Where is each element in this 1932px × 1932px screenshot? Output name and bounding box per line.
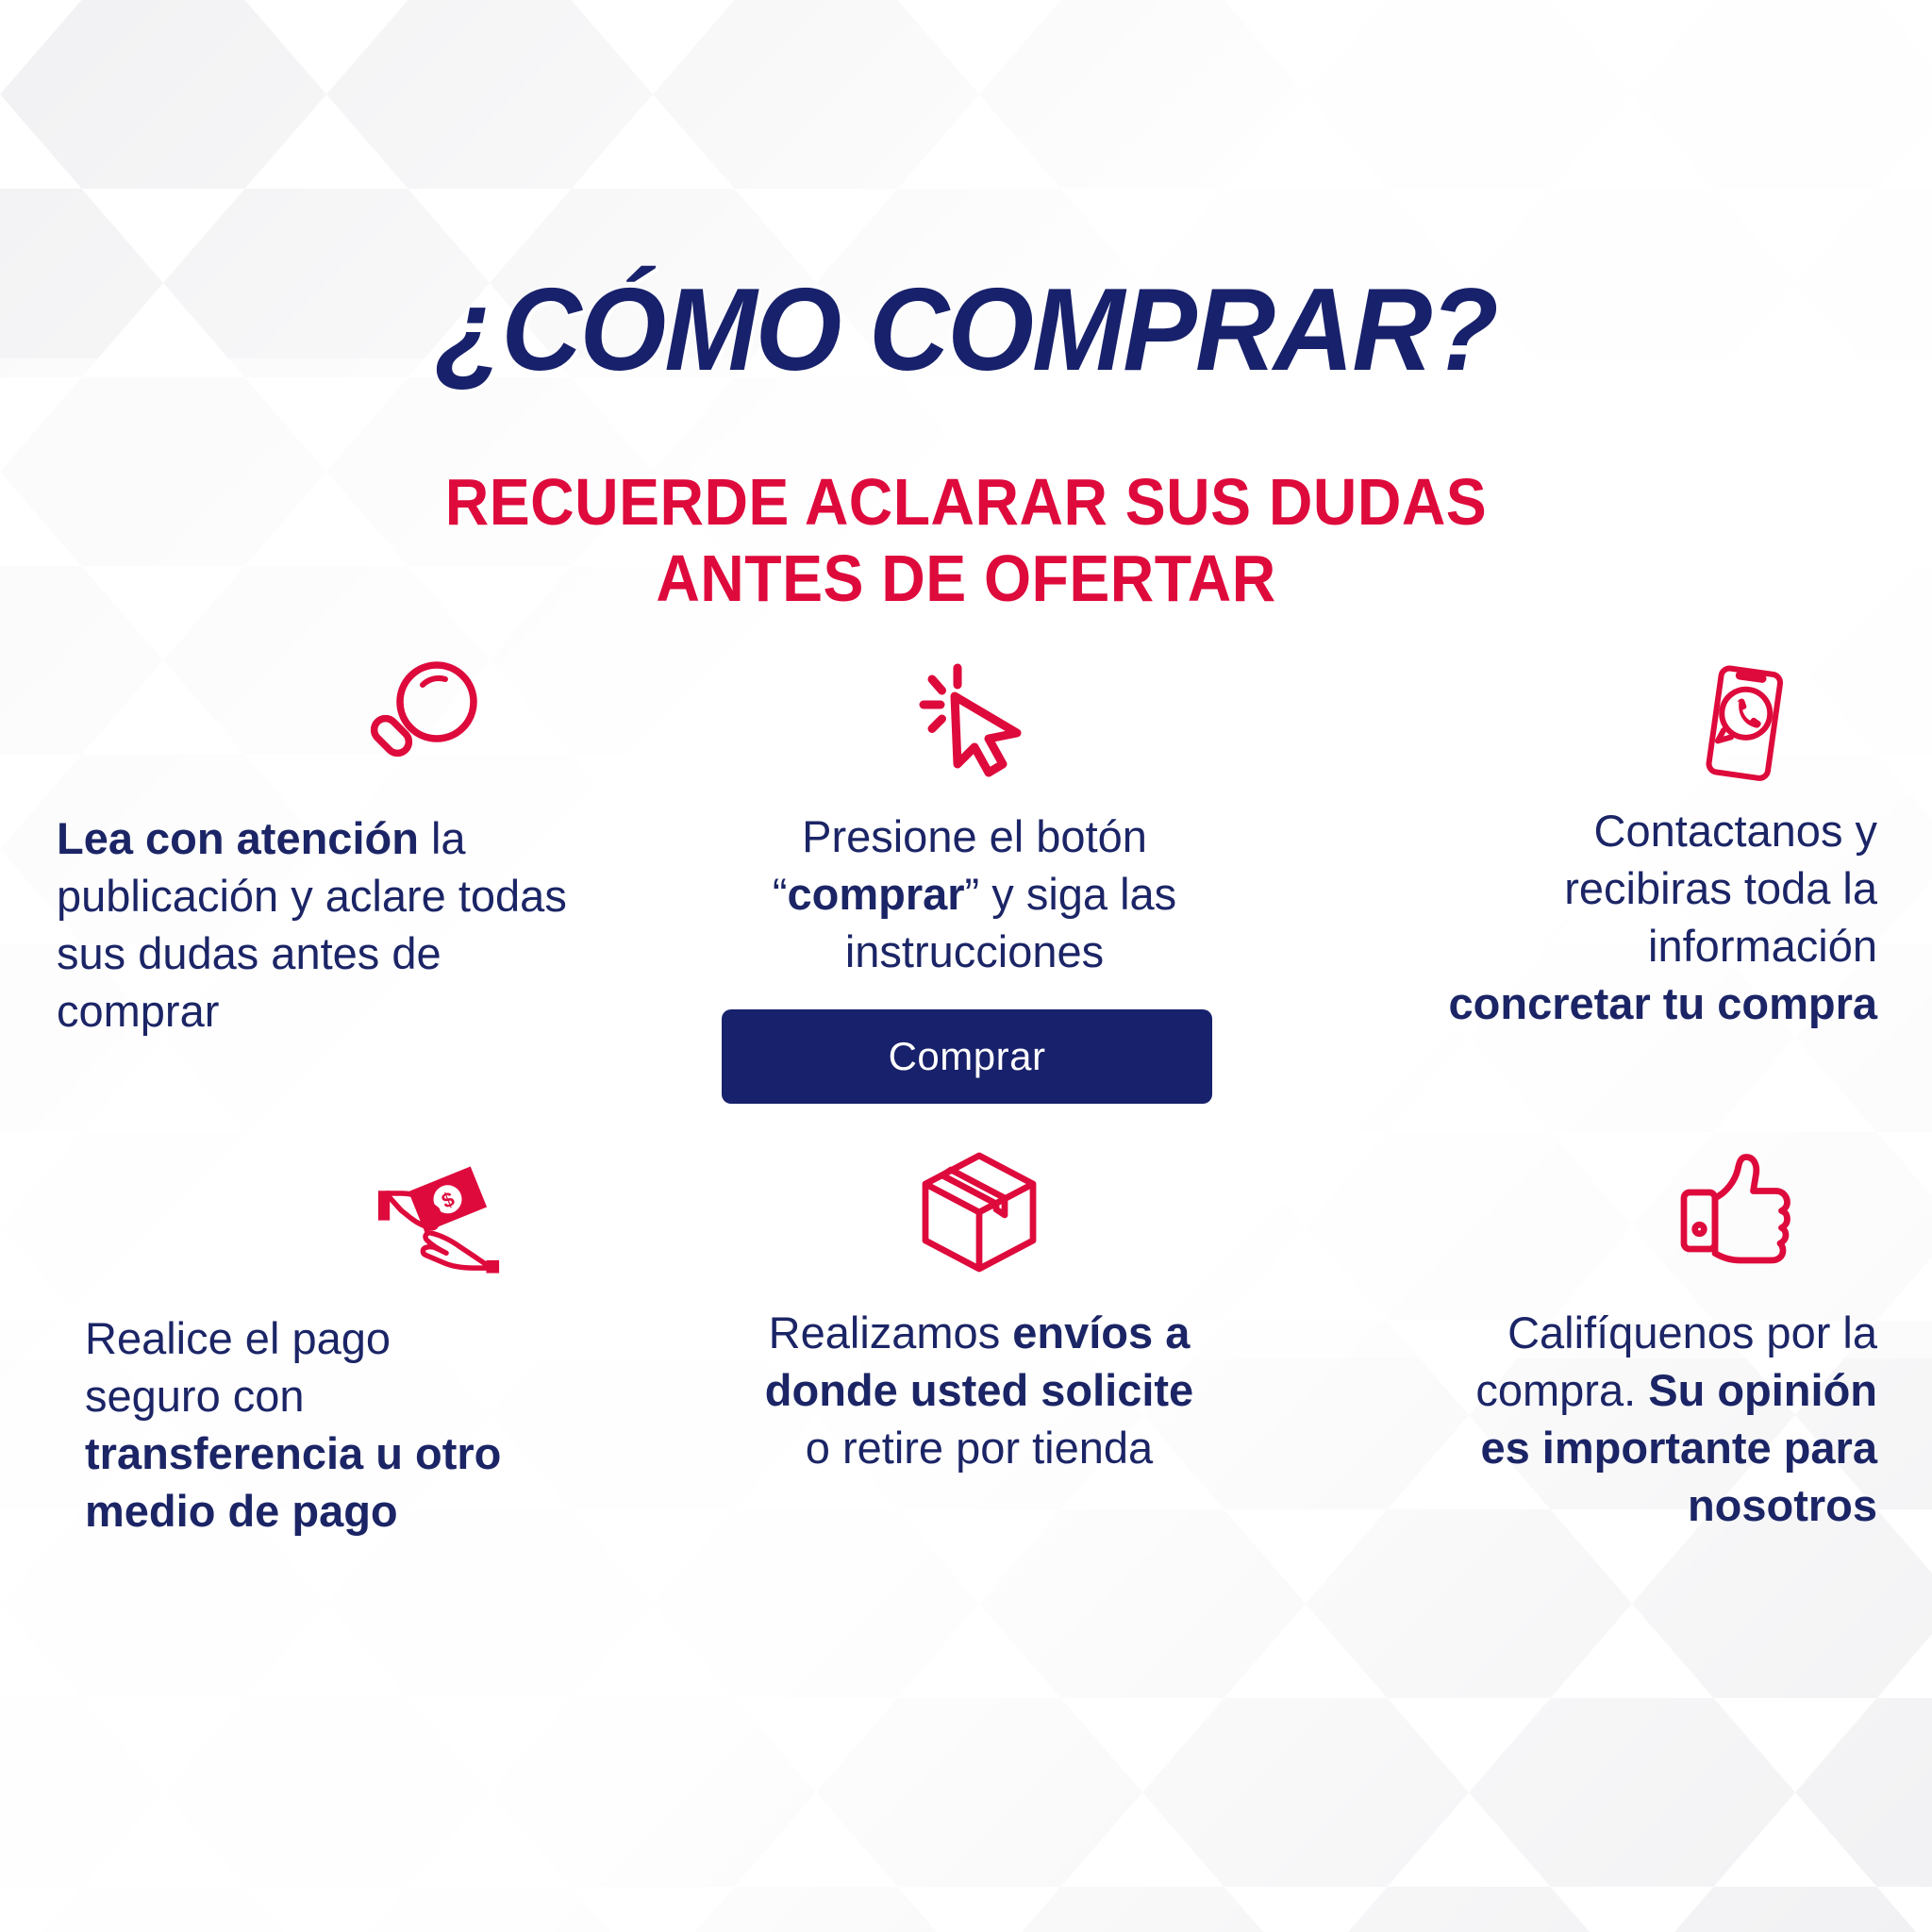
money-hands-icon: $ [283, 1151, 594, 1292]
step-secure-payment: $ Realice el pagoseguro contransferencia… [85, 1151, 594, 1540]
subtitle-line-1: RECUERDE ACLARAR SUS DUDAS [445, 465, 1487, 539]
cursor-click-icon [724, 651, 1224, 792]
step-shipping: Realizamos envíos adonde usted soliciteo… [724, 1141, 1234, 1476]
step-press-buy-button: Presione el botón“comprar” y siga lasins… [724, 651, 1224, 980]
thumbs-up-icon [1604, 1141, 1877, 1283]
step-press-buy-button-text: Presione el botón“comprar” y siga lasins… [724, 808, 1224, 980]
step-shipping-text: Realizamos envíos adonde usted soliciteo… [724, 1304, 1234, 1476]
subtitle: RECUERDE ACLARAR SUS DUDAS ANTES DE OFER… [77, 464, 1855, 617]
step-rate-us-text: Califíquenos por lacompra. Su opiniónes … [1349, 1304, 1877, 1534]
infographic-canvas: ¿CÓMO COMPRAR? RECUERDE ACLARAR SUS DUDA… [0, 0, 1932, 1932]
step-contact-us: Contactanos yrecibiras toda lainformació… [1344, 651, 1877, 1032]
subtitle-line-2: ANTES DE OFERTAR [77, 541, 1855, 617]
step-read-attentively: Lea con atención la publicación y aclare… [57, 651, 585, 1040]
step-rate-us: Califíquenos por lacompra. Su opiniónes … [1349, 1141, 1877, 1534]
step-contact-us-text: Contactanos yrecibiras toda lainformació… [1344, 802, 1877, 1032]
steps-grid: Lea con atención la publicación y aclare… [0, 651, 1932, 1594]
step-secure-payment-text: Realice el pagoseguro contransferencia u… [85, 1309, 594, 1540]
page-title: ¿CÓMO COMPRAR? [48, 272, 1884, 389]
whatsapp-phone-icon [1608, 651, 1877, 792]
step-read-attentively-text: Lea con atención la publicación y aclare… [57, 809, 585, 1040]
comprar-button[interactable]: Comprar [722, 1009, 1212, 1104]
magnifier-icon [266, 651, 585, 792]
package-box-icon [724, 1141, 1234, 1283]
